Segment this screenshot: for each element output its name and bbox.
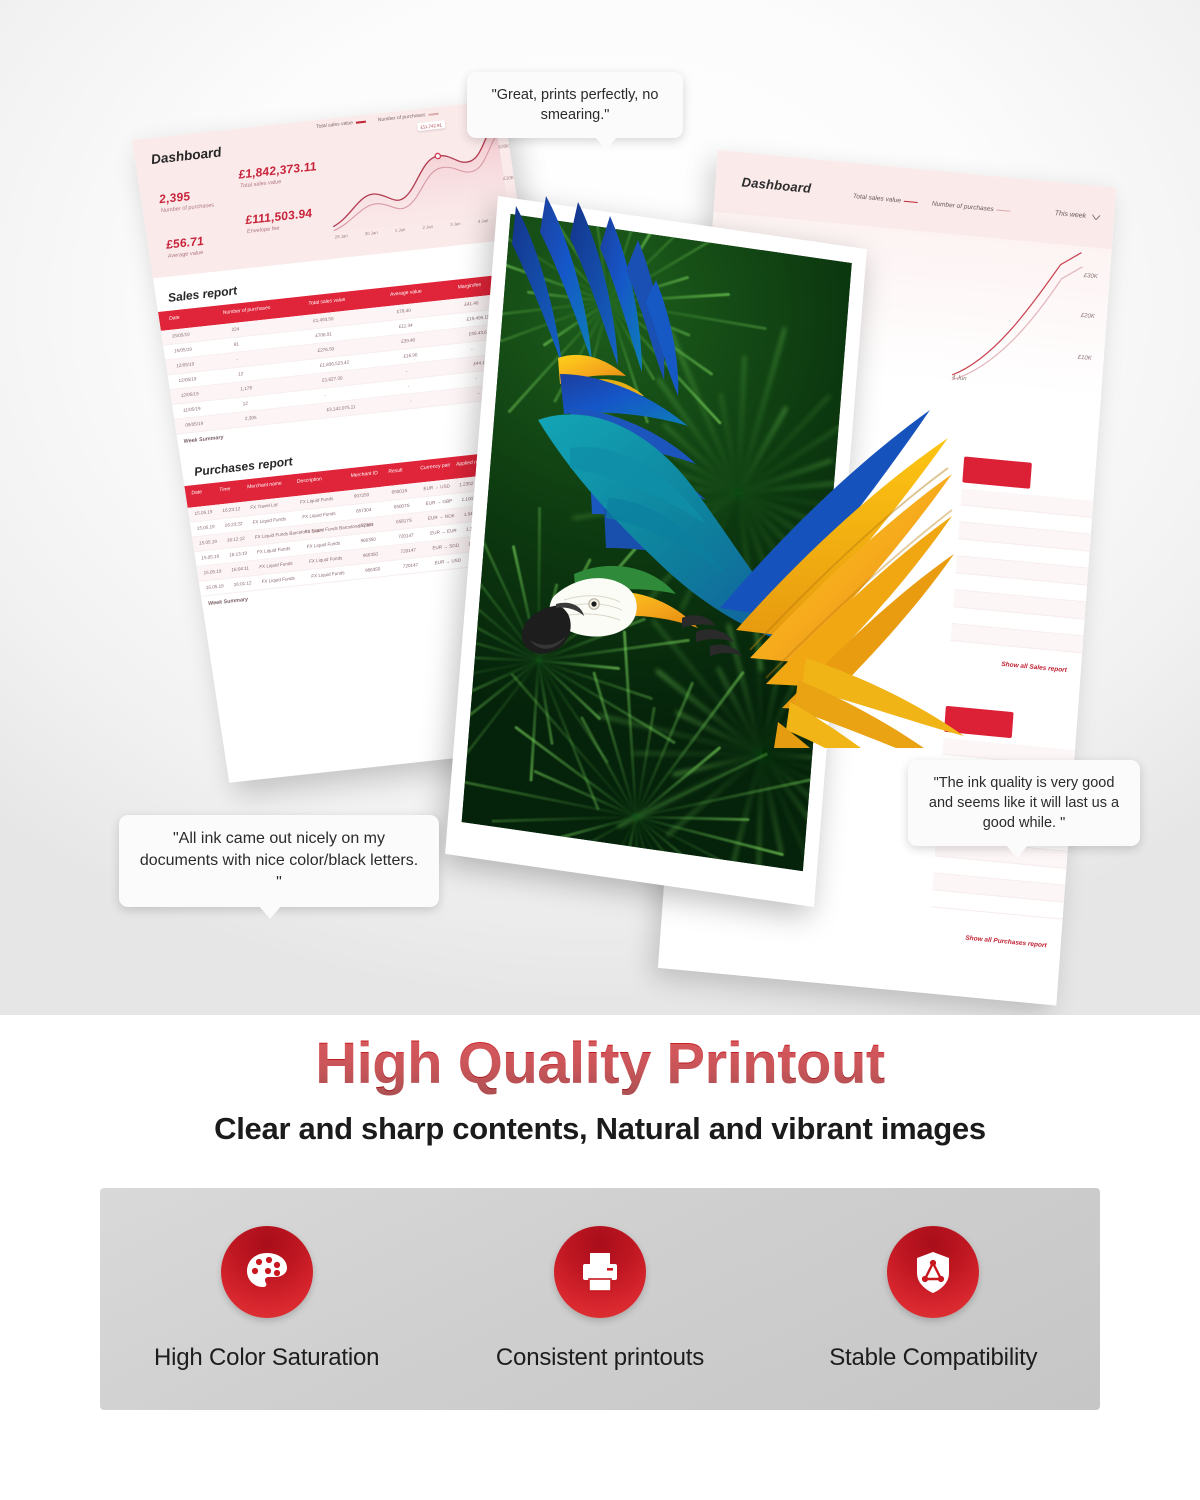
feature-icon-circle: [887, 1226, 979, 1318]
table-cell: £1,493.50: [313, 316, 334, 323]
right-y-tick-10k: £10K: [1078, 355, 1092, 362]
lower-gold-wing: [720, 410, 954, 710]
right-y-tick-20k: £20K: [1081, 313, 1095, 320]
feature-high-color-saturation: High Color Saturation: [117, 1226, 417, 1372]
legend-item-total-sales: Total sales value: [316, 119, 367, 130]
table-cell: 997250: [353, 492, 369, 499]
feature-label: Stable Compatibility: [783, 1344, 1083, 1372]
table-cell: FX Liquid Funds: [259, 561, 293, 570]
feature-icon-circle: [221, 1226, 313, 1318]
table-cell: 15.05.19: [199, 539, 218, 546]
table-cell: £11.34: [399, 323, 413, 329]
table-cell: 966350: [360, 537, 376, 544]
table-cell: FX Liquid Funds: [302, 511, 336, 520]
macaw-parrot-illustration: [420, 188, 980, 748]
period-selector-label: This week: [1054, 210, 1086, 220]
headline-block: High Quality Printout Clear and sharp co…: [0, 1030, 1200, 1147]
table-cell: 65817S: [396, 518, 413, 525]
table-cell: FX Liquid Funds: [306, 541, 340, 550]
testimonial-bubble-top: "Great, prints perfectly, no smearing.": [467, 72, 683, 138]
parrot-head: [522, 566, 698, 654]
kpi-envelope-fee: £111,503.94 Envelope fee: [244, 206, 314, 235]
right-show-all-sales-link[interactable]: Show all Sales report: [1001, 661, 1067, 674]
table-cell: 966350: [362, 551, 378, 558]
page-subtitle: Clear and sharp contents, Natural and vi…: [0, 1111, 1200, 1147]
table-cell: 15.05.19: [201, 554, 220, 561]
table-cell: 657304: [358, 522, 374, 529]
table-cell: 657304: [356, 507, 372, 514]
page-title: High Quality Printout: [0, 1030, 1200, 1097]
table-cell: 12: [242, 401, 248, 406]
feature-label: Consistent printouts: [450, 1344, 750, 1372]
feature-stable-compatibility: Stable Compatibility: [783, 1226, 1083, 1372]
table-cell: FX Liquid Funds: [252, 516, 286, 525]
table-cell: -: [236, 357, 238, 362]
table-cell: 15.05.19: [196, 524, 215, 531]
table-cell: 81: [233, 341, 239, 346]
table-cell: 15.05.19: [203, 569, 222, 576]
printer-icon: [576, 1248, 624, 1296]
feature-panel: High Color Saturation Consistent printou…: [100, 1188, 1100, 1410]
table-cell: -: [405, 368, 407, 373]
chevron-down-icon: [1092, 215, 1100, 221]
table-cell: FX Liquid Funds: [257, 546, 291, 555]
table-cell: 12/05/19: [176, 361, 195, 368]
table-cell: 16:01:12: [233, 580, 252, 587]
left-y-tick-20k: £20K: [498, 143, 509, 149]
table-cell: 16:13:19: [229, 551, 248, 558]
kpi-total-sales-value: £1,842,373.11 Total sales value: [237, 159, 318, 189]
feature-label: High Color Saturation: [117, 1344, 417, 1372]
table-cell: FX Liquid Funds: [261, 576, 295, 585]
table-cell: 720147: [402, 562, 418, 569]
table-cell: 1,178: [240, 385, 252, 391]
table-cell: 15.05.19: [205, 583, 224, 590]
table-cell: 966350: [365, 566, 381, 573]
kpi-average-value: £56.71 Average value: [165, 234, 206, 260]
table-cell: 12/05/19: [178, 376, 197, 383]
shield-network-icon: [909, 1248, 957, 1296]
kpi-value: £56.71: [165, 234, 205, 252]
table-cell: -: [410, 398, 412, 403]
table-cell: £78.40: [396, 308, 411, 314]
table-cell: 09/05/19: [185, 421, 204, 428]
table-cell: 15/05/19: [171, 332, 190, 339]
table-cell: 224: [231, 326, 239, 332]
table-cell: £1,836,523.42: [319, 360, 349, 368]
table-cell: £276.50: [317, 346, 334, 353]
table-cell: 16:23:22: [224, 521, 243, 528]
table-cell: -: [407, 383, 409, 388]
table-cell: FX Travel Ltd: [250, 502, 278, 510]
hero-scene: Dashboard Total sales value Number of pu…: [0, 0, 1200, 1015]
palette-icon: [242, 1247, 292, 1297]
table-cell: £3,142,075.11: [326, 404, 356, 412]
table-cell: £1,627.30: [322, 375, 343, 382]
feature-icon-circle: [554, 1226, 646, 1318]
table-cell: 16:23:12: [222, 506, 241, 513]
table-cell: 11/05/19: [183, 406, 201, 413]
feature-consistent-printouts: Consistent printouts: [450, 1226, 750, 1372]
right-period-selector[interactable]: This week: [1054, 210, 1100, 221]
testimonial-bubble-left: "All ink came out nicely on my documents…: [119, 815, 439, 907]
table-cell: FX Liquid Funds: [311, 570, 345, 579]
kpi-number-of-purchases: 2,395 Number of purchases: [158, 187, 215, 215]
right-show-all-purchases-link[interactable]: Show all Purchases report: [965, 935, 1047, 950]
table-cell: £16.90: [403, 352, 418, 358]
table-cell: 15.05.19: [194, 509, 213, 516]
table-cell: 720147: [398, 533, 414, 540]
table-cell: 65001S: [391, 488, 408, 495]
kpi-label: Average value: [167, 250, 206, 260]
table-cell: -: [324, 392, 326, 397]
table-cell: 16:04:11: [231, 566, 249, 573]
parrot-feet: [682, 615, 742, 656]
left-y-tick-10k: £10K: [503, 175, 514, 181]
table-cell: FX Liquid Funds: [300, 496, 334, 505]
testimonial-bubble-right: "The ink quality is very good and seems …: [908, 760, 1140, 846]
table-cell: 65007S: [393, 503, 410, 510]
table-cell: 2,395: [245, 415, 257, 421]
table-cell: 12: [238, 371, 244, 376]
right-y-tick-30k: £30K: [1084, 273, 1098, 280]
table-cell: 16:12:12: [227, 536, 246, 543]
table-cell: FX Liquid Funds: [309, 555, 343, 564]
table-cell: 720147: [400, 547, 416, 554]
table-cell: 15/05/19: [174, 347, 193, 354]
table-cell: £706.91: [315, 331, 332, 338]
table-cell: £39.40: [401, 337, 416, 343]
table-cell: 12/05/19: [180, 391, 199, 398]
